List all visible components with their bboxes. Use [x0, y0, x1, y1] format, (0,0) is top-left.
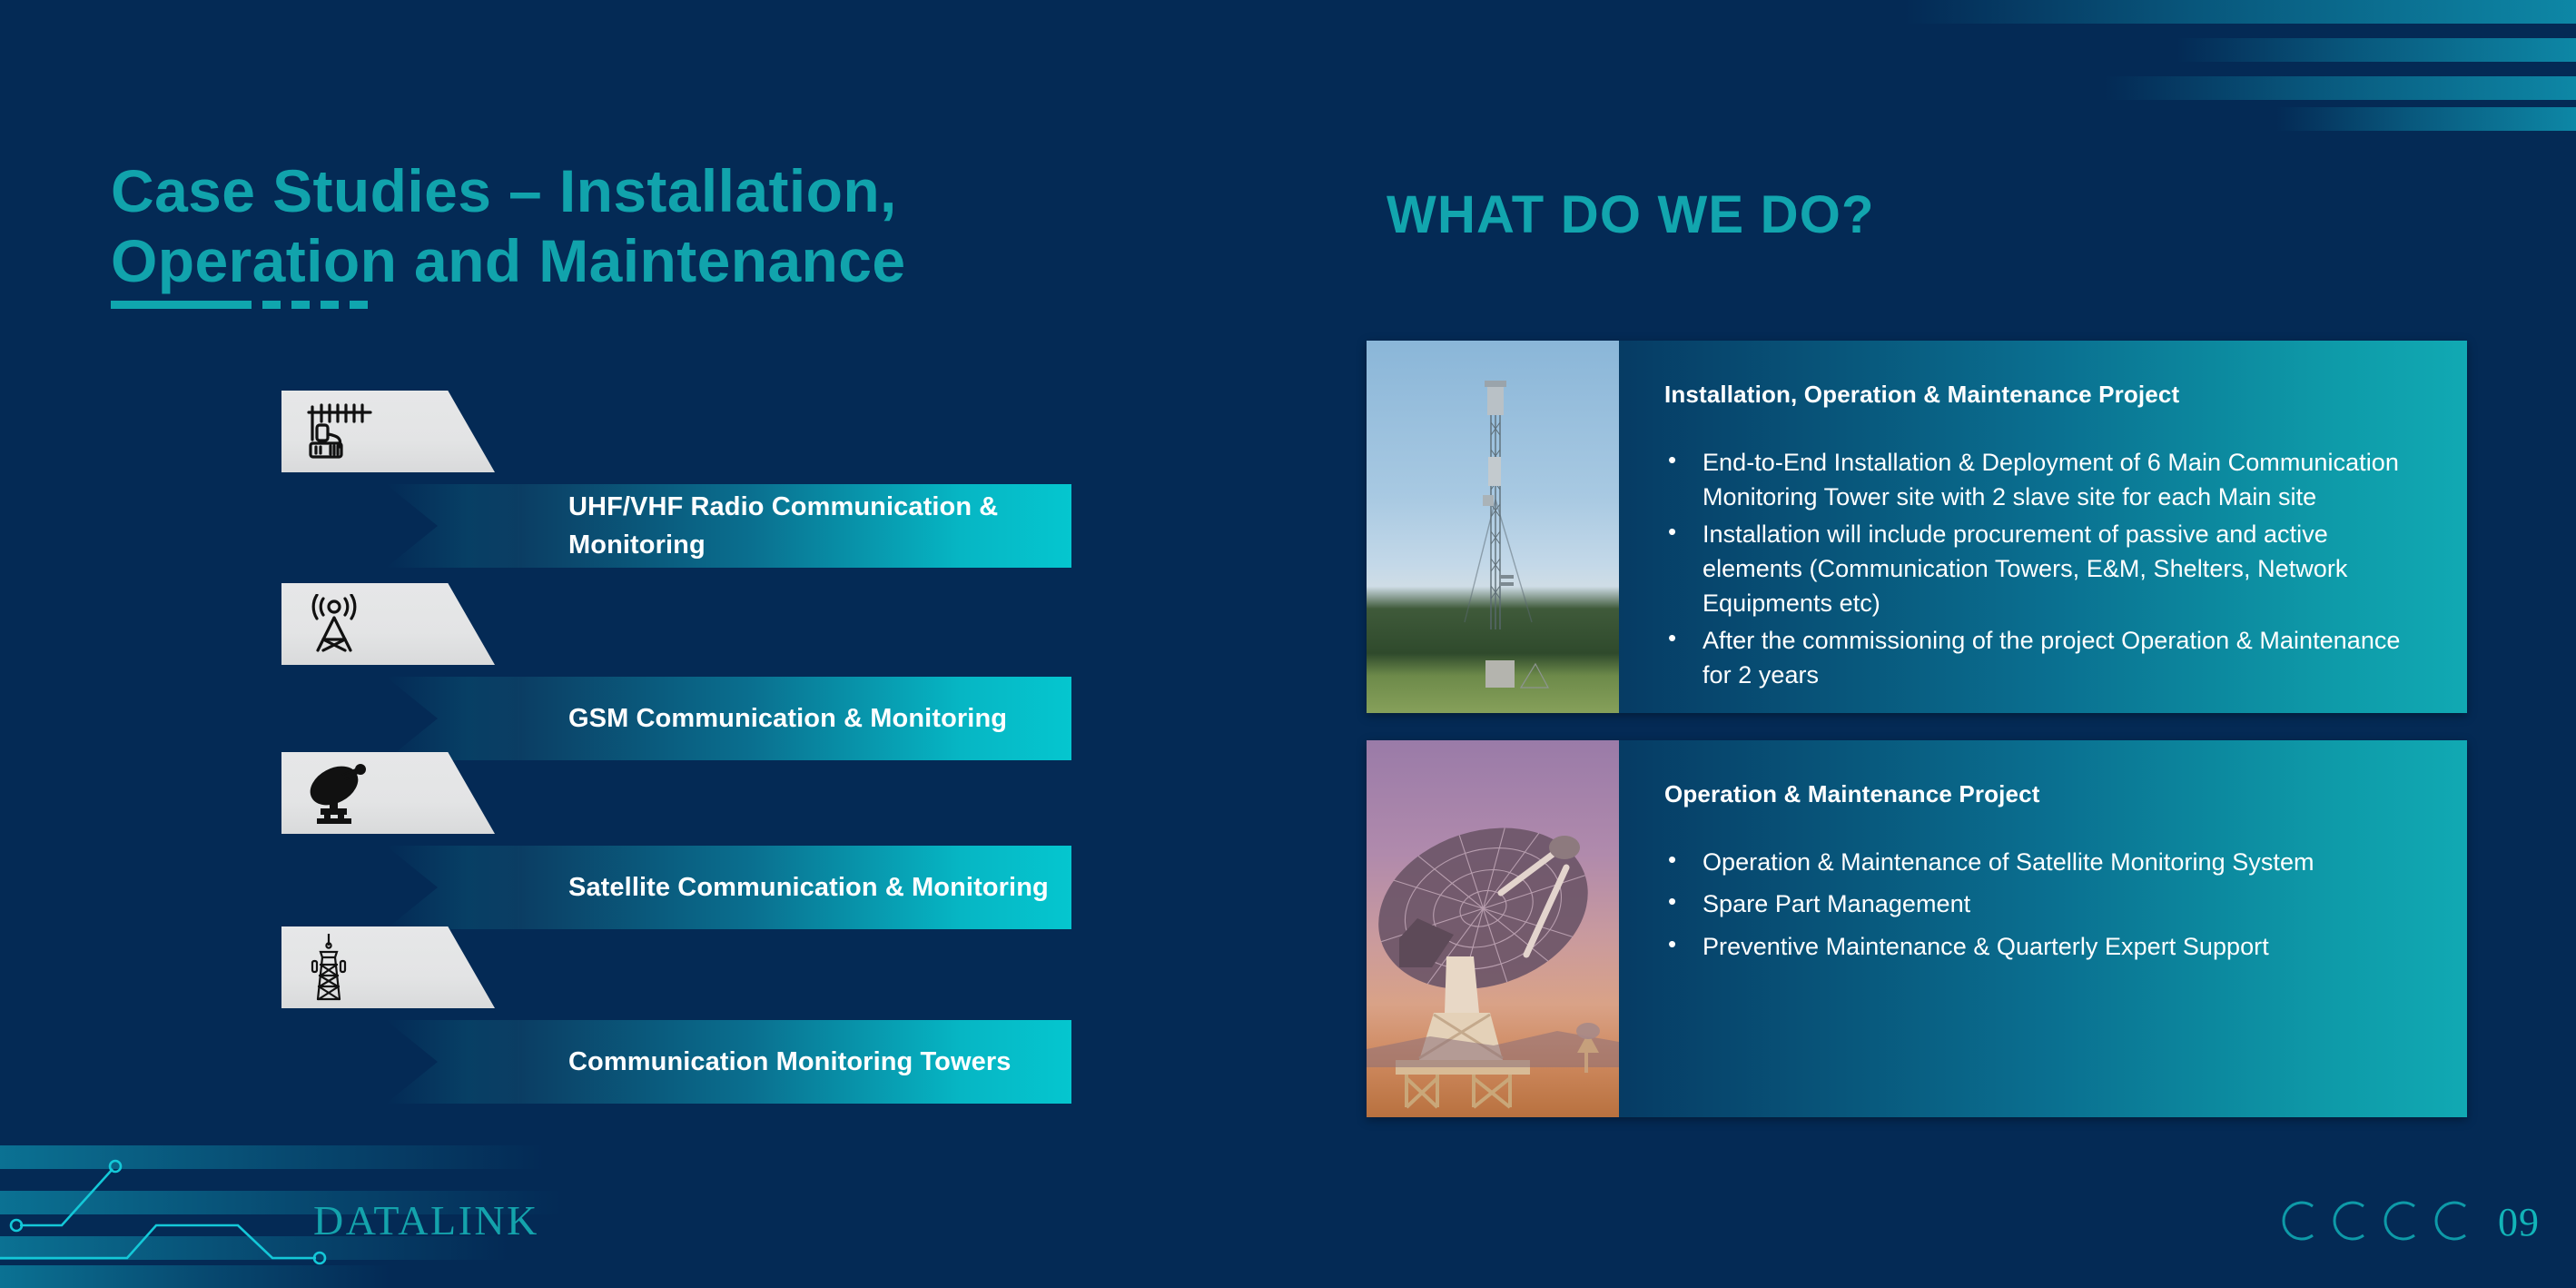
communication-tower-photo	[1367, 341, 1619, 713]
datalink-logo: DATALINK	[313, 1196, 539, 1244]
circle-accent-icon	[2273, 1195, 2482, 1248]
page-number: 09	[2498, 1199, 2540, 1245]
service-item-satellite[interactable]: Satellite Communication & Monitoring	[0, 752, 1271, 934]
service-label-bar[interactable]: UHF/VHF Radio Communication & Monitoring	[518, 484, 1071, 568]
case-bullet-list: End-to-End Installation & Deployment of …	[1664, 445, 2425, 692]
page-title: Case Studies – Installation, Operation a…	[111, 156, 1182, 295]
page-indicator: 09	[2273, 1195, 2540, 1248]
bar-tail-decoration	[386, 484, 522, 568]
rule-dot	[350, 301, 368, 309]
service-item-gsm[interactable]: GSM Communication & Monitoring	[0, 583, 1271, 765]
broadcast-tower-icon	[281, 583, 495, 665]
right-column: WHAT DO WE DO?	[1367, 0, 2576, 1288]
service-item-towers[interactable]: Communication Monitoring Towers	[0, 926, 1271, 1108]
service-label: GSM Communication & Monitoring	[518, 699, 1007, 738]
service-item-uhf-vhf-radio[interactable]: UHF/VHF Radio Communication & Monitoring	[0, 391, 1271, 572]
service-label-bar[interactable]: Communication Monitoring Towers	[518, 1020, 1071, 1104]
section-title: WHAT DO WE DO?	[1387, 184, 1875, 245]
case-bullet: Preventive Maintenance & Quarterly Exper…	[1664, 929, 2425, 964]
case-card-installation: Installation, Operation & Maintenance Pr…	[1367, 341, 2467, 713]
service-label-bar[interactable]: Satellite Communication & Monitoring	[518, 846, 1071, 929]
rule-dot	[262, 301, 281, 309]
case-card-body: Installation, Operation & Maintenance Pr…	[1619, 341, 2467, 713]
case-card-heading: Operation & Maintenance Project	[1664, 780, 2425, 808]
service-label: Communication Monitoring Towers	[518, 1043, 1012, 1081]
service-label-bar[interactable]: GSM Communication & Monitoring	[518, 677, 1071, 760]
service-label: UHF/VHF Radio Communication & Monitoring	[518, 488, 1071, 564]
bar-tail-decoration	[386, 846, 522, 929]
satellite-dish-icon	[281, 752, 495, 834]
left-column: Case Studies – Installation, Operation a…	[0, 0, 1271, 1288]
bar-tail-decoration	[386, 1020, 522, 1104]
case-card-operation: Operation & Maintenance Project Operatio…	[1367, 740, 2467, 1117]
rule-segment	[111, 301, 252, 309]
case-bullet: End-to-End Installation & Deployment of …	[1664, 445, 2425, 515]
service-label: Satellite Communication & Monitoring	[518, 868, 1049, 907]
rule-dot	[291, 301, 310, 309]
case-bullet: Installation will include procurement of…	[1664, 517, 2425, 621]
title-underline-rule	[111, 301, 368, 309]
lattice-tower-icon	[281, 926, 495, 1008]
case-card-body: Operation & Maintenance Project Operatio…	[1619, 740, 2467, 1117]
yagi-antenna-radio-icon	[281, 391, 495, 472]
case-bullet: Operation & Maintenance of Satellite Mon…	[1664, 845, 2425, 879]
satellite-dish-photo	[1367, 740, 1619, 1117]
case-bullet: After the commissioning of the project O…	[1664, 623, 2425, 693]
case-bullet: Spare Part Management	[1664, 887, 2425, 921]
bar-tail-decoration	[386, 677, 522, 760]
service-list: UHF/VHF Radio Communication & Monitoring	[0, 391, 1271, 1108]
rule-dot	[321, 301, 339, 309]
case-card-heading: Installation, Operation & Maintenance Pr…	[1664, 381, 2425, 409]
case-bullet-list: Operation & Maintenance of Satellite Mon…	[1664, 845, 2425, 964]
